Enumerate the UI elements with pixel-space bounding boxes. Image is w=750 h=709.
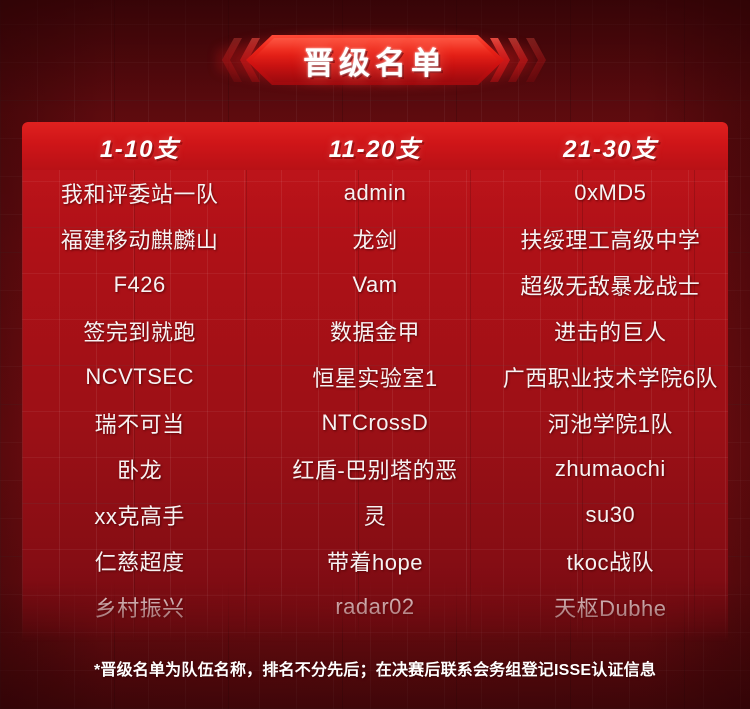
table-header-row: 1-10支 11-20支 21-30支 <box>22 122 728 170</box>
table-row: F426 Vam 超级无敌暴龙战士 <box>22 262 728 308</box>
team-name-cell: 福建移动麒麟山 <box>22 216 257 262</box>
team-name-cell: 红盾-巴别塔的恶 <box>257 446 492 492</box>
page-title: 晋级名单 <box>246 35 504 85</box>
team-name-cell: zhumaochi <box>493 446 728 492</box>
footer-note: *晋级名单为队伍名称，排名不分先后；在决赛后联系会务组登记ISSE认证信息 <box>0 656 750 680</box>
team-name-cell: 灵 <box>257 492 492 538</box>
team-name-cell: 进击的巨人 <box>493 308 728 354</box>
promotion-table-panel: 1-10支 11-20支 21-30支 我和评委站一队 admin 0xMD5 … <box>22 122 728 642</box>
team-name-cell: F426 <box>22 262 257 308</box>
team-name-cell: NTCrossD <box>257 400 492 446</box>
team-name-cell: 我和评委站一队 <box>22 170 257 216</box>
team-name-cell: 0xMD5 <box>493 170 728 216</box>
team-name-cell: xx克高手 <box>22 492 257 538</box>
team-name-cell: 签完到就跑 <box>22 308 257 354</box>
table-row: 我和评委站一队 admin 0xMD5 <box>22 170 728 216</box>
team-name-cell: NCVTSEC <box>22 354 257 400</box>
team-name-cell: admin <box>257 170 492 216</box>
team-name-cell: 仁慈超度 <box>22 538 257 584</box>
team-name-cell: 瑞不可当 <box>22 400 257 446</box>
team-name-cell: 广西职业技术学院6队 <box>493 354 728 400</box>
team-name-cell: tkoc战队 <box>493 538 728 584</box>
table-row: 卧龙 红盾-巴别塔的恶 zhumaochi <box>22 446 728 492</box>
table-row: 福建移动麒麟山 龙剑 扶绥理工高级中学 <box>22 216 728 262</box>
team-name-cell: 扶绥理工高级中学 <box>493 216 728 262</box>
promotion-list-poster: 晋级名单 1-10支 11-20支 21-30支 我和评委站一队 admin 0… <box>0 0 750 709</box>
team-name-cell: 卧龙 <box>22 446 257 492</box>
title-banner: 晋级名单 <box>0 24 750 96</box>
table-row: 仁慈超度 带着hope tkoc战队 <box>22 538 728 584</box>
team-name-cell: 乡村振兴 <box>22 584 257 630</box>
team-name-cell: 带着hope <box>257 538 492 584</box>
team-name-cell: 河池学院1队 <box>493 400 728 446</box>
table-row: NCVTSEC 恒星实验室1 广西职业技术学院6队 <box>22 354 728 400</box>
table-row: 瑞不可当 NTCrossD 河池学院1队 <box>22 400 728 446</box>
team-name-cell: 数据金甲 <box>257 308 492 354</box>
team-name-cell: radar02 <box>257 584 492 630</box>
team-name-cell: su30 <box>493 492 728 538</box>
table-row: 乡村振兴 radar02 天枢Dubhe <box>22 584 728 630</box>
table-body: 我和评委站一队 admin 0xMD5 福建移动麒麟山 龙剑 扶绥理工高级中学 … <box>22 170 728 630</box>
team-name-cell: 超级无敌暴龙战士 <box>493 262 728 308</box>
column-header-3: 21-30支 <box>493 122 728 170</box>
team-name-cell: 天枢Dubhe <box>493 584 728 630</box>
team-name-cell: Vam <box>257 262 492 308</box>
table-row: xx克高手 灵 su30 <box>22 492 728 538</box>
team-name-cell: 龙剑 <box>257 216 492 262</box>
column-header-2: 11-20支 <box>257 122 492 170</box>
column-header-1: 1-10支 <box>22 122 257 170</box>
team-name-cell: 恒星实验室1 <box>257 354 492 400</box>
table-row: 签完到就跑 数据金甲 进击的巨人 <box>22 308 728 354</box>
